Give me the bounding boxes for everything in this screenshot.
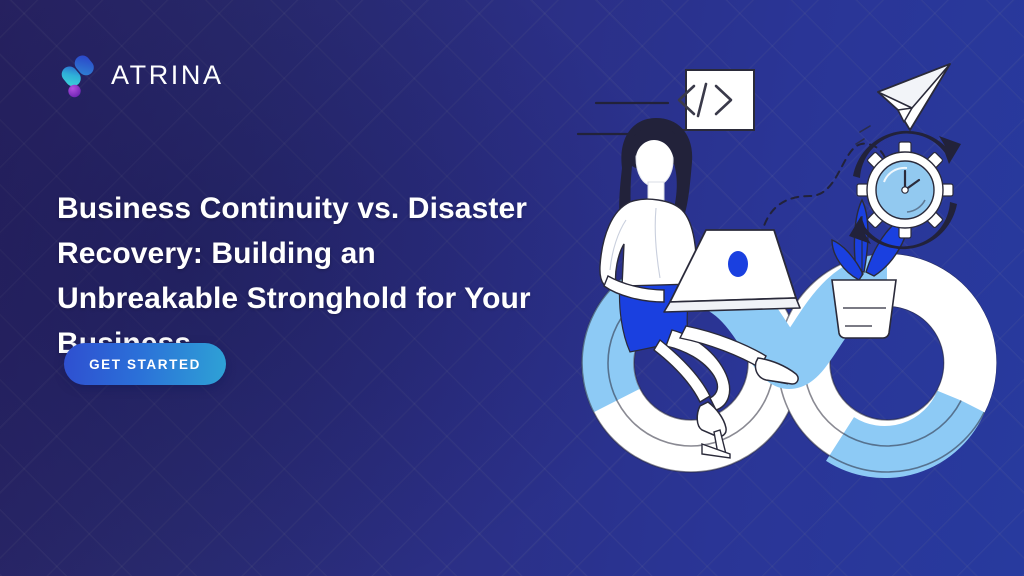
logo-wordmark: ATRINA bbox=[111, 62, 224, 89]
get-started-button[interactable]: GET STARTED bbox=[64, 343, 226, 385]
atrina-logo-mark-icon bbox=[57, 52, 99, 98]
hero-illustration bbox=[560, 40, 1010, 510]
hero-banner: ATRINA Business Continuity vs. Disaster … bbox=[0, 0, 1024, 576]
page-title: Business Continuity vs. Disaster Recover… bbox=[57, 186, 557, 366]
brand-logo[interactable]: ATRINA bbox=[57, 52, 224, 98]
